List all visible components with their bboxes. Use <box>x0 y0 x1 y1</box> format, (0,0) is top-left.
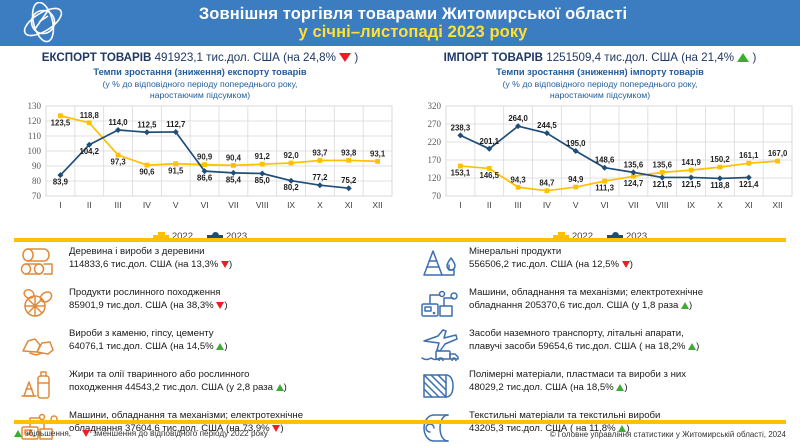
logo <box>0 0 86 46</box>
import-heading-value: 1251509,4 тис.дол. США (на 21,4% <box>546 51 734 64</box>
svg-text:320: 320 <box>428 101 442 111</box>
list-item-line-1: Полімерні матеріали, пластмаси та вироби… <box>469 369 686 382</box>
import-subtitle-2b: наростаючим підсумком) <box>400 90 800 100</box>
svg-text:120: 120 <box>428 173 442 183</box>
list-item-line-2: 114833,6 тис.дол. США (на 13,3% ) <box>69 259 232 272</box>
export-chart: 708090100110120130IIIIIIIVVVIVIIVIIIIXXX… <box>0 100 400 240</box>
svg-text:75,2: 75,2 <box>341 176 357 185</box>
export-heading: ЕКСПОРТ ТОВАРІВ 491923,1 тис.дол. США (н… <box>0 46 400 100</box>
svg-text:238,3: 238,3 <box>451 123 471 132</box>
trend-up-icon <box>688 343 696 350</box>
svg-text:III: III <box>515 200 522 210</box>
list-item-line-2: обладнання 205370,6 тис.дол. США (у 1,8 … <box>469 300 703 313</box>
svg-text:IX: IX <box>687 200 695 210</box>
svg-text:167,0: 167,0 <box>768 149 788 158</box>
svg-text:244,5: 244,5 <box>537 121 557 130</box>
svg-text:118,8: 118,8 <box>80 111 100 120</box>
list-item-value: обладнання 205370,6 тис.дол. США (у 1,8 … <box>469 300 678 311</box>
oil-derrick-icon <box>416 244 462 280</box>
list-item-value: плавучі засоби 59654,6 тис.дол. США ( на… <box>469 341 685 352</box>
import-heading-line: ІМПОРТ ТОВАРІВ 1251509,4 тис.дол. США (н… <box>400 51 800 65</box>
list-item-tail: ) <box>689 300 692 311</box>
svg-text:118,8: 118,8 <box>710 181 730 190</box>
svg-text:XI: XI <box>345 200 353 210</box>
export-subtitle-2a: (у % до відповідного періоду попередньог… <box>0 79 400 89</box>
svg-text:90,6: 90,6 <box>139 168 155 177</box>
svg-text:141,9: 141,9 <box>681 158 701 167</box>
svg-text:IV: IV <box>543 200 551 210</box>
wood-logs-icon <box>16 244 62 280</box>
transport-icon <box>416 326 462 362</box>
list-item: Полімерні матеріали, пластмаси та вироби… <box>416 367 800 403</box>
trend-down-icon <box>221 261 229 268</box>
page-header: Зовнішня торгівля товарами Житомирської … <box>0 0 800 46</box>
svg-text:85,0: 85,0 <box>255 176 271 185</box>
svg-text:121,5: 121,5 <box>652 180 672 189</box>
list-item-value: 48029,2 тис.дол. США (на 18,5% <box>469 382 614 393</box>
list-item-tail: ) <box>630 259 633 270</box>
list-item-text: Вироби з каменю, гіпсу, цементу64076,1 т… <box>69 326 228 354</box>
svg-text:90,4: 90,4 <box>226 153 242 162</box>
trend-down-icon <box>82 430 90 437</box>
export-heading-value: 491923,1 тис.дол. США (на 24,8% <box>155 51 336 64</box>
svg-text:XI: XI <box>745 200 753 210</box>
svg-text:VII: VII <box>628 200 638 210</box>
svg-text:93,7: 93,7 <box>312 148 327 157</box>
oils-fats-icon <box>16 367 62 403</box>
machinery-icon <box>416 285 462 321</box>
list-item-value: 64076,1 тис.дол. США (на 14,5% <box>69 341 214 352</box>
svg-text:112,7: 112,7 <box>166 120 185 129</box>
svg-text:86,6: 86,6 <box>197 174 213 183</box>
svg-text:220: 220 <box>428 137 442 147</box>
list-item-line-1: Засоби наземного транспорту, літальні ап… <box>469 328 699 341</box>
svg-text:195,0: 195,0 <box>566 139 586 148</box>
svg-text:70: 70 <box>32 191 42 201</box>
svg-text:III: III <box>115 200 122 210</box>
plant-products-icon <box>16 285 62 321</box>
divider-bottom <box>14 420 786 424</box>
footer-decrease-label: зменшення до відповідного періоду 2022 р… <box>93 429 268 438</box>
export-column: ЕКСПОРТ ТОВАРІВ 491923,1 тис.дол. США (н… <box>0 46 400 236</box>
list-item-tail: ) <box>624 382 627 393</box>
svg-text:94,9: 94,9 <box>568 175 584 184</box>
svg-text:80,2: 80,2 <box>283 183 299 192</box>
import-heading-label: ІМПОРТ ТОВАРІВ <box>444 51 543 64</box>
svg-text:270: 270 <box>428 119 442 129</box>
list-item-line-2: 85901,9 тис.дол. США (на 38,3% ) <box>69 300 228 313</box>
svg-text:84,7: 84,7 <box>539 179 554 188</box>
svg-text:153,1: 153,1 <box>451 169 471 178</box>
svg-text:97,3: 97,3 <box>110 158 126 167</box>
export-subtitle: Темпи зростання (зниження) експорту това… <box>0 67 400 79</box>
svg-text:201,1: 201,1 <box>479 137 499 146</box>
list-item-value: 556506,2 тис.дол. США (на 12,5% <box>469 259 619 270</box>
svg-text:90,9: 90,9 <box>197 153 213 162</box>
svg-text:70: 70 <box>432 191 442 201</box>
svg-text:VIII: VIII <box>656 200 669 210</box>
svg-text:150,2: 150,2 <box>710 155 730 164</box>
list-item-line-2: 556506,2 тис.дол. США (на 12,5% ) <box>469 259 633 272</box>
list-item-text: Продукти рослинного походження85901,9 ти… <box>69 285 228 313</box>
list-item-tail: ) <box>224 300 227 311</box>
svg-text:93,1: 93,1 <box>370 149 386 158</box>
list-item-text: Жири та олії тваринного або рослинногопо… <box>69 367 287 395</box>
list-item-line-2: 48029,2 тис.дол. США (на 18,5% ) <box>469 382 686 395</box>
svg-text:264,0: 264,0 <box>508 114 528 123</box>
list-item: Продукти рослинного походження85901,9 ти… <box>16 285 400 321</box>
list-item-line-1: Деревина і вироби з деревини <box>69 246 232 259</box>
import-chart: 70120170220270320IIIIIIIVVVIVIIVIIIIXXXI… <box>400 100 800 240</box>
svg-text:VII: VII <box>228 200 238 210</box>
list-item: Машини, обладнання та механізми; електро… <box>416 285 800 321</box>
divider-top <box>14 238 786 242</box>
stone-cement-icon <box>16 326 62 362</box>
svg-text:104,2: 104,2 <box>79 147 99 156</box>
list-item-tail: ) <box>224 341 227 352</box>
export-heading-label: ЕКСПОРТ ТОВАРІВ <box>42 51 152 64</box>
svg-text:161,1: 161,1 <box>739 151 759 160</box>
svg-text:I: I <box>459 200 461 210</box>
svg-text:148,6: 148,6 <box>595 156 615 165</box>
import-subtitle: Темпи зростання (зниження) імпорту товар… <box>400 67 800 79</box>
trend-up-icon <box>681 302 689 309</box>
svg-text:112,5: 112,5 <box>137 120 157 129</box>
svg-text:V: V <box>573 200 579 210</box>
list-item-line-2: 64076,1 тис.дол. США (на 14,5% ) <box>69 341 228 354</box>
svg-text:121,5: 121,5 <box>681 180 701 189</box>
charts-section: ЕКСПОРТ ТОВАРІВ 491923,1 тис.дол. США (н… <box>0 46 800 236</box>
svg-text:135,6: 135,6 <box>652 160 672 169</box>
import-heading: ІМПОРТ ТОВАРІВ 1251509,4 тис.дол. США (н… <box>400 46 800 100</box>
commodity-lists: Деревина і вироби з деревини114833,6 тис… <box>0 244 800 418</box>
svg-text:123,5: 123,5 <box>51 118 71 127</box>
footer-increase-label: збільшення, <box>25 429 71 438</box>
list-item-line-1: Жири та олії тваринного або рослинного <box>69 369 287 382</box>
list-item-tail: ) <box>284 382 287 393</box>
page-footer: збільшення, зменшення до відповідного пе… <box>0 426 800 447</box>
svg-text:80: 80 <box>32 176 42 186</box>
export-heading-line: ЕКСПОРТ ТОВАРІВ 491923,1 тис.дол. США (н… <box>0 51 400 65</box>
trend-down-icon <box>622 261 630 268</box>
list-item-text: Засоби наземного транспорту, літальні ап… <box>469 326 699 354</box>
export-heading-tail: ) <box>354 51 358 64</box>
svg-text:121,4: 121,4 <box>739 180 759 189</box>
footer-copyright: © Головне управління статистики у Житоми… <box>550 430 786 439</box>
list-item-tail: ) <box>229 259 232 270</box>
svg-text:77,2: 77,2 <box>312 173 328 182</box>
list-item-tail: ) <box>696 341 699 352</box>
polymer-roll-icon <box>416 367 462 403</box>
svg-text:93,8: 93,8 <box>341 148 357 157</box>
list-item: Деревина і вироби з деревини114833,6 тис… <box>16 244 400 280</box>
svg-text:IV: IV <box>143 200 151 210</box>
list-item-line-1: Машини, обладнання та механізми; електро… <box>469 287 703 300</box>
list-item-value: 114833,6 тис.дол. США (на 13,3% <box>69 259 218 270</box>
list-item: Жири та олії тваринного або рослинногопо… <box>16 367 400 403</box>
list-item-text: Деревина і вироби з деревини114833,6 тис… <box>69 244 232 272</box>
list-item-line-1: Вироби з каменю, гіпсу, цементу <box>69 328 228 341</box>
svg-text:XII: XII <box>372 200 382 210</box>
svg-text:V: V <box>173 200 179 210</box>
import-subtitle-2a: (у % до відповідного періоду попередньог… <box>400 79 800 89</box>
list-item: Мінеральні продукти556506,2 тис.дол. США… <box>416 244 800 280</box>
svg-text:91,5: 91,5 <box>168 166 184 175</box>
list-item-text: Машини, обладнання та механізми; електро… <box>469 285 703 313</box>
svg-text:VI: VI <box>201 200 209 210</box>
title-line-2: у січні–листопаді 2023 року <box>86 23 740 41</box>
svg-text:120: 120 <box>28 116 42 126</box>
svg-text:VI: VI <box>601 200 609 210</box>
svg-text:94,3: 94,3 <box>510 175 526 184</box>
svg-text:91,2: 91,2 <box>255 152 271 161</box>
svg-text:111,3: 111,3 <box>595 184 614 193</box>
list-item-line-2: походження 44543,2 тис.дол. США (у 2,8 р… <box>69 382 287 395</box>
svg-text:170: 170 <box>428 155 442 165</box>
trend-up-icon <box>14 430 22 437</box>
svg-text:135,6: 135,6 <box>624 160 644 169</box>
list-item: Засоби наземного транспорту, літальні ап… <box>416 326 800 362</box>
infographic-page: Зовнішня торгівля товарами Житомирської … <box>0 0 800 447</box>
svg-text:90: 90 <box>32 161 42 171</box>
list-item-value: 85901,9 тис.дол. США (на 38,3% <box>69 300 214 311</box>
svg-text:85,4: 85,4 <box>226 175 242 184</box>
list-item-text: Мінеральні продукти556506,2 тис.дол. США… <box>469 244 633 272</box>
svg-text:I: I <box>59 200 61 210</box>
import-column: ІМПОРТ ТОВАРІВ 1251509,4 тис.дол. США (н… <box>400 46 800 236</box>
page-title: Зовнішня торгівля товарами Житомирської … <box>86 5 800 42</box>
svg-text:X: X <box>717 200 723 210</box>
svg-text:130: 130 <box>28 101 42 111</box>
title-line-1: Зовнішня торгівля товарами Житомирської … <box>86 5 740 23</box>
list-item-text: Полімерні матеріали, пластмаси та вироби… <box>469 367 686 395</box>
svg-text:X: X <box>317 200 323 210</box>
import-items-list: Мінеральні продукти556506,2 тис.дол. США… <box>400 244 800 418</box>
svg-text:110: 110 <box>28 131 42 141</box>
svg-text:XII: XII <box>772 200 782 210</box>
svg-text:IX: IX <box>287 200 295 210</box>
svg-text:100: 100 <box>28 146 42 156</box>
list-item-value: походження 44543,2 тис.дол. США (у 2,8 р… <box>69 382 273 393</box>
trend-down-icon <box>339 53 351 62</box>
svg-text:II: II <box>87 200 92 210</box>
svg-text:83,9: 83,9 <box>53 178 69 187</box>
trend-up-icon <box>737 53 749 62</box>
svg-text:92,0: 92,0 <box>283 151 299 160</box>
svg-text:114,0: 114,0 <box>109 118 129 127</box>
export-subtitle-2b: наростаючим підсумком) <box>0 90 400 100</box>
import-heading-tail: ) <box>753 51 757 64</box>
list-item-line-1: Мінеральні продукти <box>469 246 633 259</box>
list-item-line-1: Продукти рослинного походження <box>69 287 228 300</box>
footer-legend: збільшення, зменшення до відповідного пе… <box>14 429 268 438</box>
list-item: Вироби з каменю, гіпсу, цементу64076,1 т… <box>16 326 400 362</box>
trend-up-icon <box>276 384 284 391</box>
svg-text:VIII: VIII <box>256 200 269 210</box>
svg-text:146,5: 146,5 <box>479 171 499 180</box>
globe-atom-logo-icon <box>17 2 69 44</box>
list-item-line-2: плавучі засоби 59654,6 тис.дол. США ( на… <box>469 341 699 354</box>
svg-text:II: II <box>487 200 492 210</box>
export-items-list: Деревина і вироби з деревини114833,6 тис… <box>0 244 400 418</box>
svg-text:124,7: 124,7 <box>624 179 644 188</box>
